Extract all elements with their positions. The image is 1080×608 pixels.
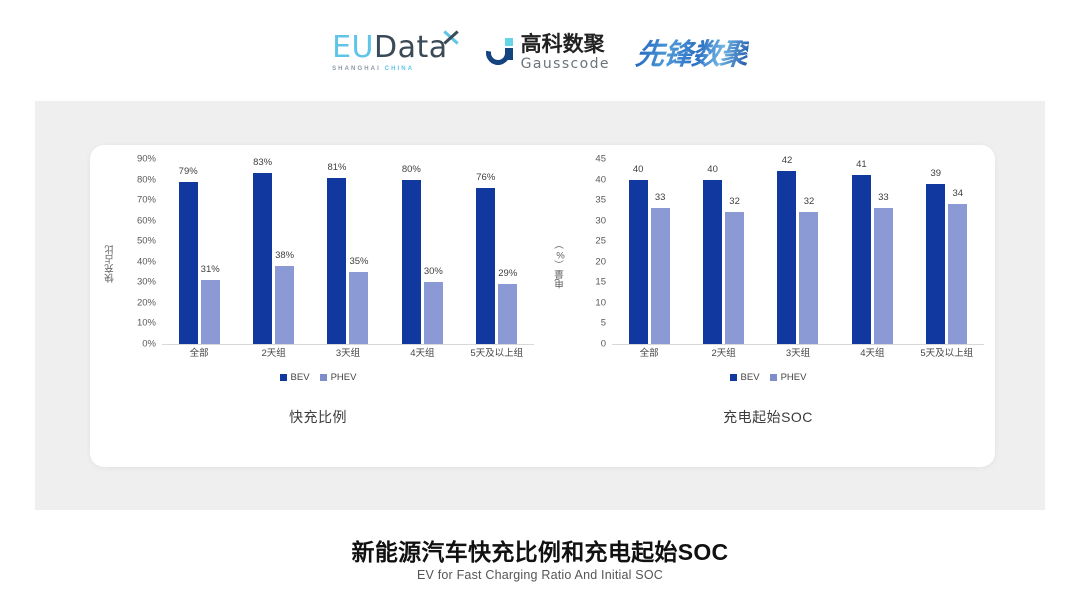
bar-bev[interactable]: 40 bbox=[703, 180, 722, 344]
x-category-label: 2天组 bbox=[261, 349, 285, 359]
y-tick-label: 60% bbox=[137, 216, 156, 226]
y-tick-label: 5 bbox=[601, 319, 606, 329]
legend-item-phev-right: PHEV bbox=[770, 372, 807, 383]
bar-group: 3934 bbox=[910, 159, 984, 344]
x-category-label: 5天及以上组 bbox=[470, 349, 523, 359]
legend-swatch-bev-icon bbox=[730, 374, 737, 381]
bar-phev[interactable]: 30% bbox=[424, 282, 443, 344]
legend-item-bev-left: BEV bbox=[280, 372, 310, 383]
chart-initial-soc: 电量（%） 454035302520151050 4033全部40322天组42… bbox=[542, 159, 994, 459]
x-category-label: 3天组 bbox=[336, 349, 360, 359]
evdata-wordmark: EUData bbox=[332, 33, 448, 63]
gausscode-en-text: Gausscode bbox=[521, 57, 610, 71]
gausscode-logo: 高科数聚 Gausscode bbox=[486, 34, 610, 71]
y-tick-label: 90% bbox=[137, 154, 156, 164]
y-axis-ticks-left: 90%80%70%60%50%40%30%20%10%0% bbox=[120, 159, 156, 344]
bar-value-label: 38% bbox=[275, 251, 294, 261]
bar-value-label: 30% bbox=[424, 267, 443, 277]
xianfeng-logo: 先锋数聚 bbox=[634, 31, 750, 73]
bar-value-label: 32 bbox=[729, 197, 740, 207]
bar-value-label: 76% bbox=[476, 173, 495, 183]
page-subtitle: EV for Fast Charging Ratio And Initial S… bbox=[0, 568, 1080, 582]
bar-value-label: 42 bbox=[782, 156, 793, 166]
bar-bev[interactable]: 40 bbox=[629, 180, 648, 344]
x-category-label: 5天及以上组 bbox=[920, 349, 973, 359]
chart-caption-left: 快充比例 bbox=[92, 407, 544, 427]
bar-group: 4032 bbox=[686, 159, 760, 344]
y-axis-ticks-right: 454035302520151050 bbox=[570, 159, 606, 344]
gausscode-wordmark: 高科数聚 Gausscode bbox=[521, 34, 610, 71]
evdata-tagline: SHANGHAI CHINA bbox=[332, 66, 414, 72]
bar-value-label: 29% bbox=[498, 269, 517, 279]
bar-value-label: 32 bbox=[804, 197, 815, 207]
evdata-country-text: CHINA bbox=[385, 66, 415, 72]
bar-phev[interactable]: 31% bbox=[201, 280, 220, 344]
y-tick-label: 40% bbox=[137, 257, 156, 267]
bar-value-label: 33 bbox=[878, 193, 889, 203]
legend-right: BEV PHEV bbox=[542, 372, 994, 383]
y-tick-label: 20% bbox=[137, 298, 156, 308]
bar-phev[interactable]: 34 bbox=[948, 204, 967, 344]
bar-phev[interactable]: 35% bbox=[349, 272, 368, 344]
gausscode-cn-text: 高科数聚 bbox=[521, 34, 610, 55]
bar-group: 4033 bbox=[612, 159, 686, 344]
chart-caption-right: 充电起始SOC bbox=[542, 407, 994, 427]
bar-value-label: 33 bbox=[655, 193, 666, 203]
chart-fast-charging-ratio: 快充占比 90%80%70%60%50%40%30%20%10%0% 79%31… bbox=[92, 159, 544, 459]
bar-bev[interactable]: 79% bbox=[179, 182, 198, 344]
y-tick-label: 80% bbox=[137, 175, 156, 185]
plot-area-right: 4033全部40322天组42323天组41334天组39345天及以上组 bbox=[612, 159, 984, 345]
y-axis-title-left: 快充占比 bbox=[106, 245, 120, 283]
legend-swatch-phev-icon bbox=[320, 374, 327, 381]
bar-group: 83%38% bbox=[236, 159, 310, 344]
plot-area-wrapper-left: 快充占比 90%80%70%60%50%40%30%20%10%0% 79%31… bbox=[92, 159, 544, 369]
bar-value-label: 80% bbox=[402, 165, 421, 175]
bar-phev[interactable]: 32 bbox=[799, 212, 818, 344]
y-tick-label: 30 bbox=[595, 216, 606, 226]
y-tick-label: 10 bbox=[595, 298, 606, 308]
y-tick-label: 40 bbox=[595, 175, 606, 185]
y-tick-label: 30% bbox=[137, 278, 156, 288]
plot-area-left: 79%31%全部83%38%2天组81%35%3天组80%30%4天组76%29… bbox=[162, 159, 534, 345]
bar-value-label: 41 bbox=[856, 160, 867, 170]
bar-value-label: 81% bbox=[327, 163, 346, 173]
legend-label-phev-right: PHEV bbox=[781, 372, 807, 383]
legend-swatch-bev-icon bbox=[280, 374, 287, 381]
legend-item-bev-right: BEV bbox=[730, 372, 760, 383]
bar-bev[interactable]: 76% bbox=[476, 188, 495, 344]
bar-bev[interactable]: 80% bbox=[402, 180, 421, 344]
bar-value-label: 35% bbox=[349, 257, 368, 267]
legend-label-phev-left: PHEV bbox=[331, 372, 357, 383]
legend-item-phev-left: PHEV bbox=[320, 372, 357, 383]
x-cross-icon bbox=[440, 27, 460, 47]
charts-card: 快充占比 90%80%70%60%50%40%30%20%10%0% 79%31… bbox=[90, 145, 995, 467]
x-category-label: 4天组 bbox=[860, 349, 884, 359]
gausscode-cyan-square-shape bbox=[505, 38, 513, 46]
x-category-label: 全部 bbox=[640, 349, 659, 359]
bar-group: 81%35% bbox=[311, 159, 385, 344]
bar-value-label: 40 bbox=[707, 165, 718, 175]
bar-group: 4133 bbox=[835, 159, 909, 344]
bar-bev[interactable]: 39 bbox=[926, 184, 945, 344]
gausscode-mark-icon bbox=[486, 38, 514, 66]
bar-value-label: 39 bbox=[930, 169, 941, 179]
evdata-logo: EUData SHANGHAI CHINA bbox=[332, 33, 460, 72]
bar-value-label: 34 bbox=[952, 189, 963, 199]
y-axis-title-right: 电量（%） bbox=[556, 240, 570, 289]
y-tick-label: 0 bbox=[601, 339, 606, 349]
y-tick-label: 15 bbox=[595, 278, 606, 288]
gausscode-navy-square-shape bbox=[505, 48, 513, 60]
y-tick-label: 25 bbox=[595, 236, 606, 246]
bar-group: 80%30% bbox=[385, 159, 459, 344]
bar-bev[interactable]: 42 bbox=[777, 171, 796, 344]
evdata-ev-text: EU bbox=[332, 30, 374, 65]
x-category-label: 2天组 bbox=[711, 349, 735, 359]
bar-value-label: 40 bbox=[633, 165, 644, 175]
page-title: 新能源汽车快充比例和充电起始SOC bbox=[0, 533, 1080, 567]
evdata-city-text: SHANGHAI bbox=[332, 66, 385, 72]
x-category-label: 全部 bbox=[190, 349, 209, 359]
legend-swatch-phev-icon bbox=[770, 374, 777, 381]
plot-area-wrapper-right: 电量（%） 454035302520151050 4033全部40322天组42… bbox=[542, 159, 994, 369]
legend-left: BEV PHEV bbox=[92, 372, 544, 383]
bar-phev[interactable]: 38% bbox=[275, 266, 294, 344]
legend-label-bev-left: BEV bbox=[291, 372, 310, 383]
bar-value-label: 31% bbox=[201, 265, 220, 275]
y-tick-label: 50% bbox=[137, 236, 156, 246]
bar-phev[interactable]: 33 bbox=[651, 208, 670, 344]
y-tick-label: 70% bbox=[137, 195, 156, 205]
evdata-data-text: Data bbox=[374, 30, 448, 65]
bar-bev[interactable]: 81% bbox=[327, 178, 346, 345]
bar-bev[interactable]: 41 bbox=[852, 175, 871, 344]
x-category-label: 3天组 bbox=[786, 349, 810, 359]
legend-label-bev-right: BEV bbox=[741, 372, 760, 383]
y-tick-label: 0% bbox=[142, 339, 156, 349]
bar-value-label: 79% bbox=[179, 167, 198, 177]
bar-phev[interactable]: 29% bbox=[498, 284, 517, 344]
y-tick-label: 45 bbox=[595, 154, 606, 164]
bar-bev[interactable]: 83% bbox=[253, 173, 272, 344]
x-category-label: 4天组 bbox=[410, 349, 434, 359]
bar-phev[interactable]: 33 bbox=[874, 208, 893, 344]
y-tick-label: 10% bbox=[137, 319, 156, 329]
logo-bar: EUData SHANGHAI CHINA 高科数聚 Gausscode 先锋数… bbox=[0, 22, 1080, 82]
bar-group: 4232 bbox=[761, 159, 835, 344]
y-tick-label: 35 bbox=[595, 195, 606, 205]
bar-group: 79%31% bbox=[162, 159, 236, 344]
bar-value-label: 83% bbox=[253, 158, 272, 168]
bar-group: 76%29% bbox=[460, 159, 534, 344]
bar-phev[interactable]: 32 bbox=[725, 212, 744, 344]
y-tick-label: 20 bbox=[595, 257, 606, 267]
